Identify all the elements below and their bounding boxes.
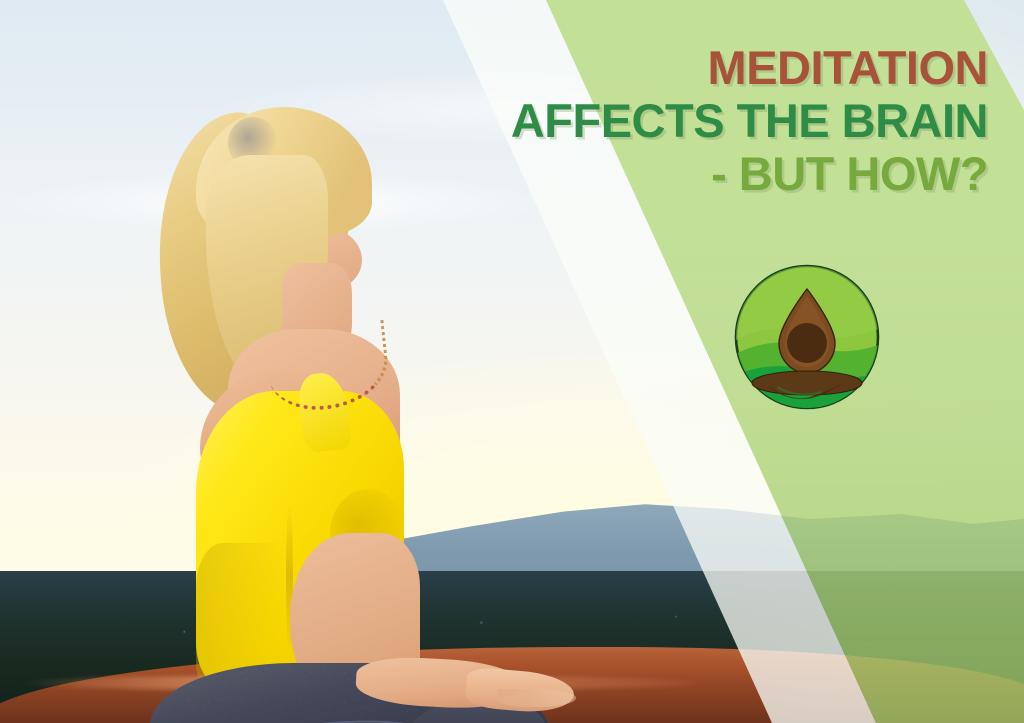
headline: MEDITATION AFFECTS THE BRAIN - BUT HOW? (511, 44, 988, 197)
fingers (498, 689, 576, 707)
headline-line-2: AFFECTS THE BRAIN (511, 97, 988, 144)
headline-line-1: MEDITATION (511, 44, 988, 91)
headline-line-3: - BUT HOW? (511, 150, 988, 197)
meditation-lotus-logo (733, 263, 881, 411)
meditating-woman (0, 103, 560, 723)
meditation-banner: MEDITATION AFFECTS THE BRAIN - BUT HOW? (0, 0, 1024, 723)
